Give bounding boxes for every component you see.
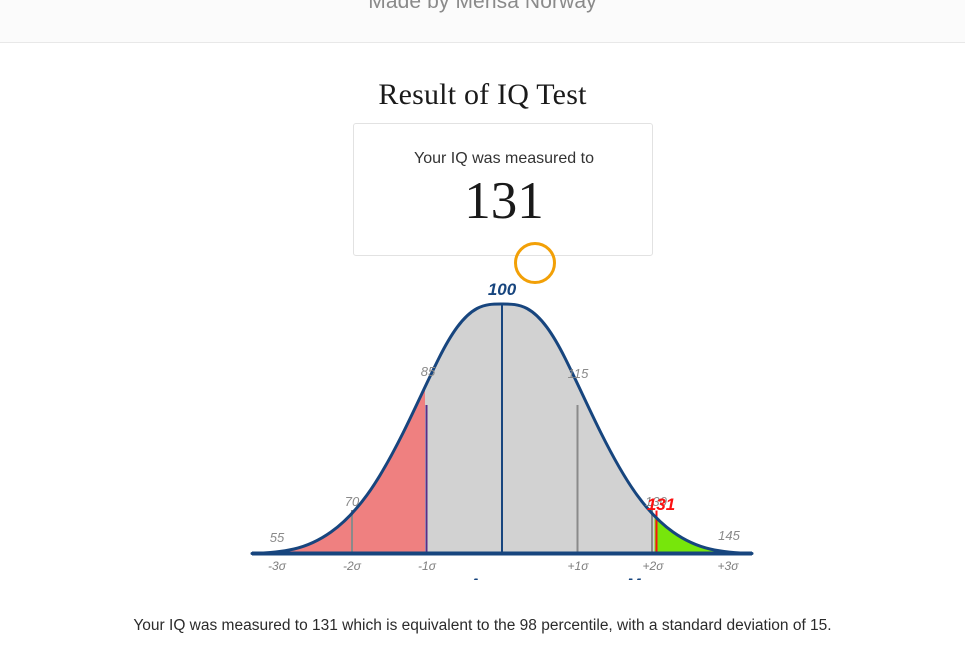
bell-curve-chart: 55 70 85 100 115 130 145 131 -3σ -2σ -1σ… [0, 270, 965, 580]
axis-tick-plus-3-sigma: +3σ [718, 559, 740, 573]
axis-tick-minus-3-sigma: -3σ [268, 559, 287, 573]
banner-title: Made by Mensa Norway [0, 0, 965, 14]
result-summary-text: Your IQ was measured to 131 which is equ… [0, 617, 965, 635]
result-card-score: 131 [354, 172, 654, 230]
iq-result-page: Made by Mensa Norway Result of IQ Test Y… [0, 0, 965, 669]
value-label-70: 70 [345, 494, 360, 509]
bell-curve-svg: 55 70 85 100 115 130 145 131 -3σ -2σ -1σ… [0, 270, 965, 580]
value-label-131-you: 131 [647, 495, 675, 514]
chart-annotations: Average Mensa You [467, 575, 679, 580]
axis-tick-minus-2-sigma: -2σ [343, 559, 362, 573]
page-title: Result of IQ Test [0, 78, 965, 112]
value-label-145: 145 [718, 528, 740, 543]
top-banner: Made by Mensa Norway [0, 0, 965, 43]
result-card-label: Your IQ was measured to [354, 150, 654, 168]
axis-tick-minus-1-sigma: -1σ [418, 559, 437, 573]
annotation-average: Average [467, 575, 535, 580]
value-label-100: 100 [488, 280, 517, 299]
result-card: Your IQ was measured to 131 [353, 123, 653, 256]
value-label-85: 85 [421, 364, 436, 379]
sigma-axis-labels: -3σ -2σ -1σ +1σ +2σ +3σ [268, 559, 739, 573]
annotation-mensa: Mensa [627, 575, 680, 580]
value-label-55: 55 [270, 530, 285, 545]
axis-tick-plus-2-sigma: +2σ [643, 559, 665, 573]
axis-tick-plus-1-sigma: +1σ [568, 559, 590, 573]
value-label-115: 115 [568, 366, 589, 381]
